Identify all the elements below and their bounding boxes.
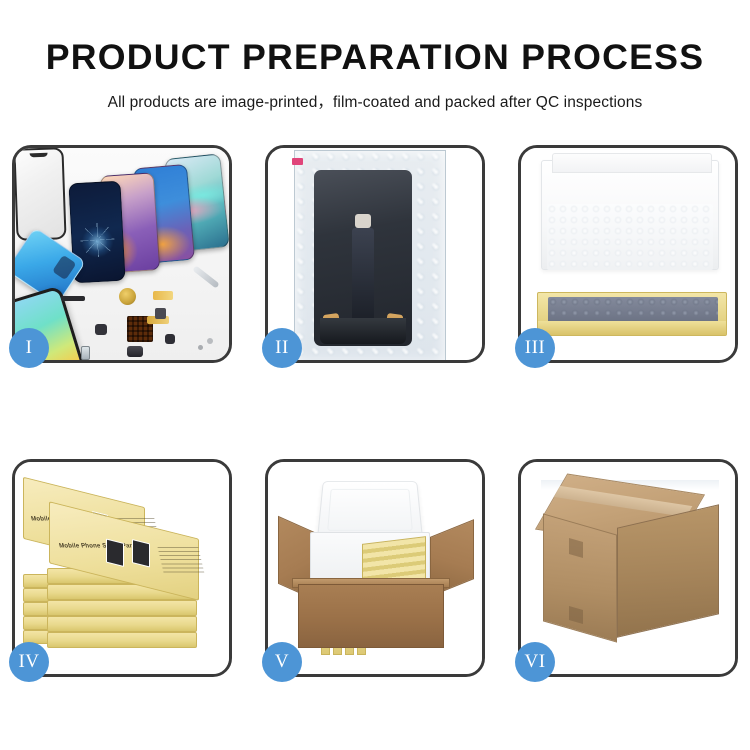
page-title: PRODUCT PREPARATION PROCESS xyxy=(0,40,750,75)
step-2-image xyxy=(268,148,482,360)
part-screw-a-icon xyxy=(207,338,213,344)
box-stack-icon: Mobile Phone Spare Parts Mobile Phone Sp… xyxy=(15,462,229,674)
phone-parts-illustration xyxy=(15,148,229,360)
part-camera-a-icon xyxy=(95,324,107,335)
phone-front-glass-icon xyxy=(15,148,67,241)
box-spec-lines-front xyxy=(157,547,204,574)
lcd-screen-icon xyxy=(314,170,412,346)
lcd-flex-strip-icon xyxy=(352,228,374,324)
carton-right-face-icon xyxy=(617,504,719,638)
foam-sheet-icon xyxy=(547,204,713,270)
lcd-connector-icon xyxy=(355,214,371,228)
box-front-edge-icon xyxy=(538,321,726,335)
part-flex-cable-a-icon xyxy=(153,291,173,300)
step-panel-5: V xyxy=(265,459,485,677)
step-1-image xyxy=(15,148,229,360)
step-panel-6: VI xyxy=(518,459,738,677)
step-panel-4: Mobile Phone Spare Parts Mobile Phone Sp… xyxy=(12,459,232,677)
part-antenna-bar-icon xyxy=(61,296,85,301)
stack-box-front-2 xyxy=(47,616,197,632)
part-coil-icon xyxy=(119,288,136,305)
box-label-front: Mobile Phone Spare Parts xyxy=(58,543,138,550)
lcd-bottom-bezel-icon xyxy=(320,318,406,344)
product-preparation-infographic: PRODUCT PREPARATION PROCESS All products… xyxy=(0,0,750,750)
process-steps-grid: I II xyxy=(12,145,738,681)
yellow-box-tray-icon xyxy=(537,292,727,336)
part-camera-b-icon xyxy=(165,334,175,344)
carton-front-icon xyxy=(298,584,444,648)
part-tweezer-icon xyxy=(192,265,219,288)
stack-box-front-3 xyxy=(47,600,197,616)
step-4-image: Mobile Phone Spare Parts Mobile Phone Sp… xyxy=(15,462,229,674)
step-badge-1: I xyxy=(9,328,49,368)
step-3-image xyxy=(521,148,735,360)
step-badge-6: VI xyxy=(515,642,555,682)
box-thumb-front-b xyxy=(132,539,150,567)
part-speaker-icon xyxy=(127,346,143,357)
bubble-wrapped-item-icon xyxy=(548,297,718,323)
header: PRODUCT PREPARATION PROCESS All products… xyxy=(0,0,750,112)
pink-qc-tag-icon xyxy=(292,158,303,165)
part-chip-icon xyxy=(155,308,166,319)
step-5-image xyxy=(268,462,482,674)
step-panel-2: II xyxy=(265,145,485,363)
step-badge-5: V xyxy=(262,642,302,682)
part-screw-b-icon xyxy=(198,345,203,350)
step-panel-3: III xyxy=(518,145,738,363)
stack-box-front-1 xyxy=(47,632,197,648)
page-subtitle: All products are image-printed，film-coat… xyxy=(0,90,750,112)
step-badge-4: IV xyxy=(9,642,49,682)
box-thumb-front-a xyxy=(106,539,124,567)
step-badge-3: III xyxy=(515,328,555,368)
step-6-image xyxy=(521,462,735,674)
step-badge-2: II xyxy=(262,328,302,368)
step-panel-1: I xyxy=(12,145,232,363)
part-button-icon xyxy=(81,346,90,360)
